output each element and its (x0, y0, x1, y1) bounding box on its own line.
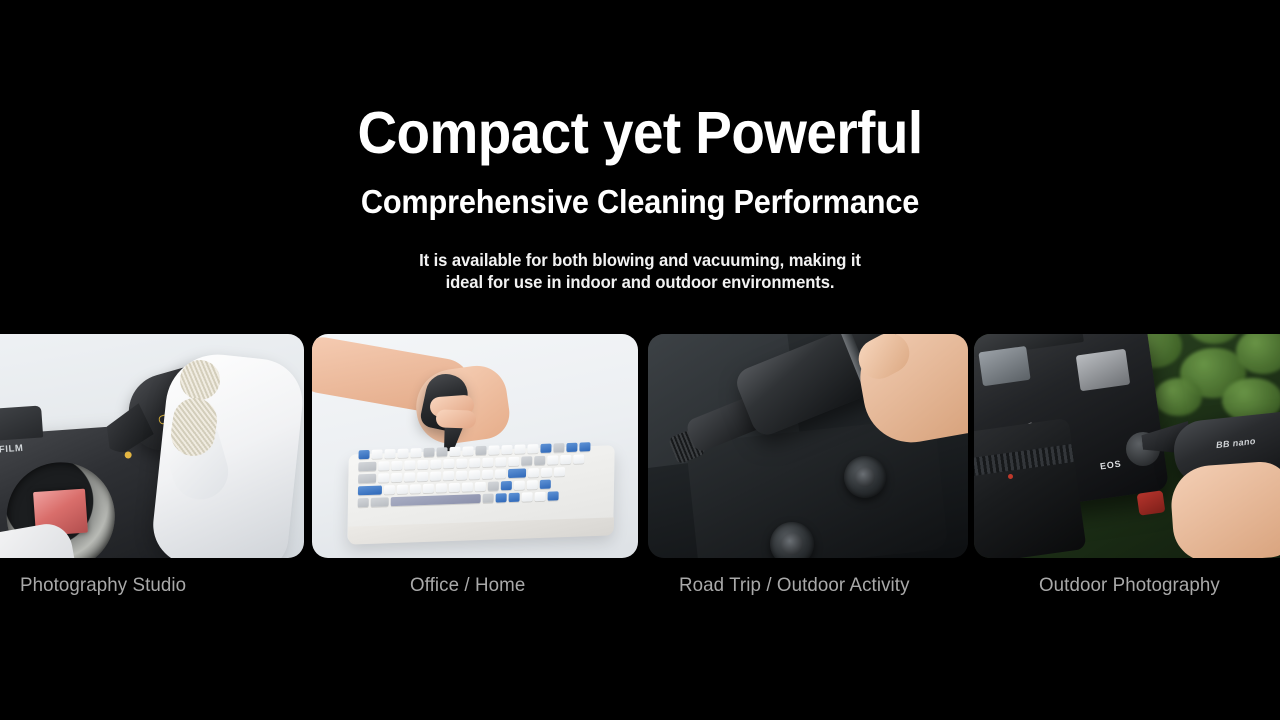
studio-scene: FUJIFILM (0, 334, 304, 558)
hero-section: Compact yet Powerful Comprehensive Clean… (0, 0, 1280, 334)
camera-indicator-dot (124, 451, 131, 458)
finger (436, 409, 477, 428)
hero-description-line-1: It is available for both blowing and vac… (32, 249, 1248, 271)
promo-banner: Compact yet Powerful Comprehensive Clean… (0, 0, 1280, 720)
page-subtitle: Comprehensive Cleaning Performance (45, 185, 1235, 218)
outdoor-scene: Canon EOS BB nano (974, 334, 1280, 558)
caption-office-home: Office / Home (410, 574, 525, 597)
foliage-leaf (1154, 378, 1202, 416)
camera-top-lcd (978, 346, 1030, 386)
keyboard-scene (312, 334, 638, 558)
camera-hotshoe (1076, 349, 1131, 392)
hero-description: It is available for both blowing and vac… (32, 249, 1248, 293)
caption-photography-studio: Photography Studio (20, 574, 186, 597)
page-title: Compact yet Powerful (45, 104, 1235, 163)
use-case-image-outdoor-photography: Canon EOS BB nano (974, 334, 1280, 558)
hero-description-line-2: ideal for use in indoor and outdoor envi… (32, 271, 1248, 293)
fujifilm-brand-text: FUJIFILM (0, 443, 24, 457)
keyboard-keys (353, 439, 610, 518)
caption-road-trip: Road Trip / Outdoor Activity (679, 574, 910, 597)
camera-lens (974, 418, 1087, 558)
use-case-image-road-trip (648, 334, 968, 558)
car-interior-scene (648, 334, 968, 558)
car-control-knob (770, 522, 814, 558)
use-case-image-strip: FUJIFILM (0, 334, 1280, 558)
camera-viewfinder-prism (0, 405, 43, 443)
use-case-image-photography-studio: FUJIFILM (0, 334, 304, 558)
camera-strap-clip (1137, 490, 1166, 515)
foliage-leaf (1188, 334, 1240, 344)
lens-mount-marker (1008, 474, 1013, 479)
use-case-image-office-home (312, 334, 638, 558)
caption-outdoor-photography: Outdoor Photography (1039, 574, 1220, 597)
hand-right (1169, 460, 1280, 558)
use-case-caption-row: Photography Studio Office / Home Road Tr… (0, 558, 1280, 620)
car-control-knob (844, 456, 886, 498)
